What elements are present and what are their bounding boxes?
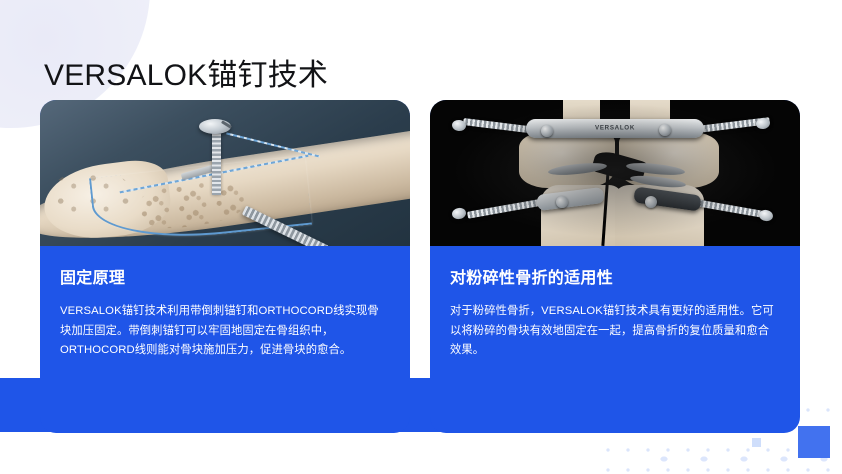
image-vignette bbox=[430, 100, 800, 246]
decorative-solid-square bbox=[798, 426, 830, 458]
card-fixation-principle[interactable]: 固定原理 VERSALOK锚钉技术利用带倒刺锚钉和ORTHOCORD线实现骨块加… bbox=[40, 100, 410, 433]
card-comminuted-fracture-suitability[interactable]: VERSALOK 对粉碎性骨折的适用性 对于粉碎性骨折，VERSALOK锚钉技术… bbox=[430, 100, 800, 433]
decorative-white-mask bbox=[0, 432, 842, 474]
vertical-screw-shaft bbox=[212, 125, 221, 195]
slide-root: VERSALOK锚钉技术 固定原理 VERSALOK锚钉技术利用带倒刺锚钉和OR bbox=[0, 0, 842, 474]
card-heading: 固定原理 bbox=[60, 268, 390, 290]
card-description: VERSALOK锚钉技术利用带倒刺锚钉和ORTHOCORD线实现骨块加压固定。带… bbox=[60, 302, 390, 361]
card-body-fixation-principle: 固定原理 VERSALOK锚钉技术利用带倒刺锚钉和ORTHOCORD线实现骨块加… bbox=[40, 246, 410, 381]
card-image-comminuted-fracture: VERSALOK bbox=[430, 100, 800, 246]
page-title: VERSALOK锚钉技术 bbox=[44, 56, 328, 96]
card-image-fixation-principle bbox=[40, 100, 410, 246]
card-description: 对于粉碎性骨折，VERSALOK锚钉技术具有更好的适用性。它可以将粉碎的骨块有效… bbox=[450, 302, 780, 361]
card-container: 固定原理 VERSALOK锚钉技术利用带倒刺锚钉和ORTHOCORD线实现骨块加… bbox=[40, 100, 800, 433]
card-body-comminuted-fracture: 对粉碎性骨折的适用性 对于粉碎性骨折，VERSALOK锚钉技术具有更好的适用性。… bbox=[430, 246, 800, 381]
card-heading: 对粉碎性骨折的适用性 bbox=[450, 268, 780, 290]
